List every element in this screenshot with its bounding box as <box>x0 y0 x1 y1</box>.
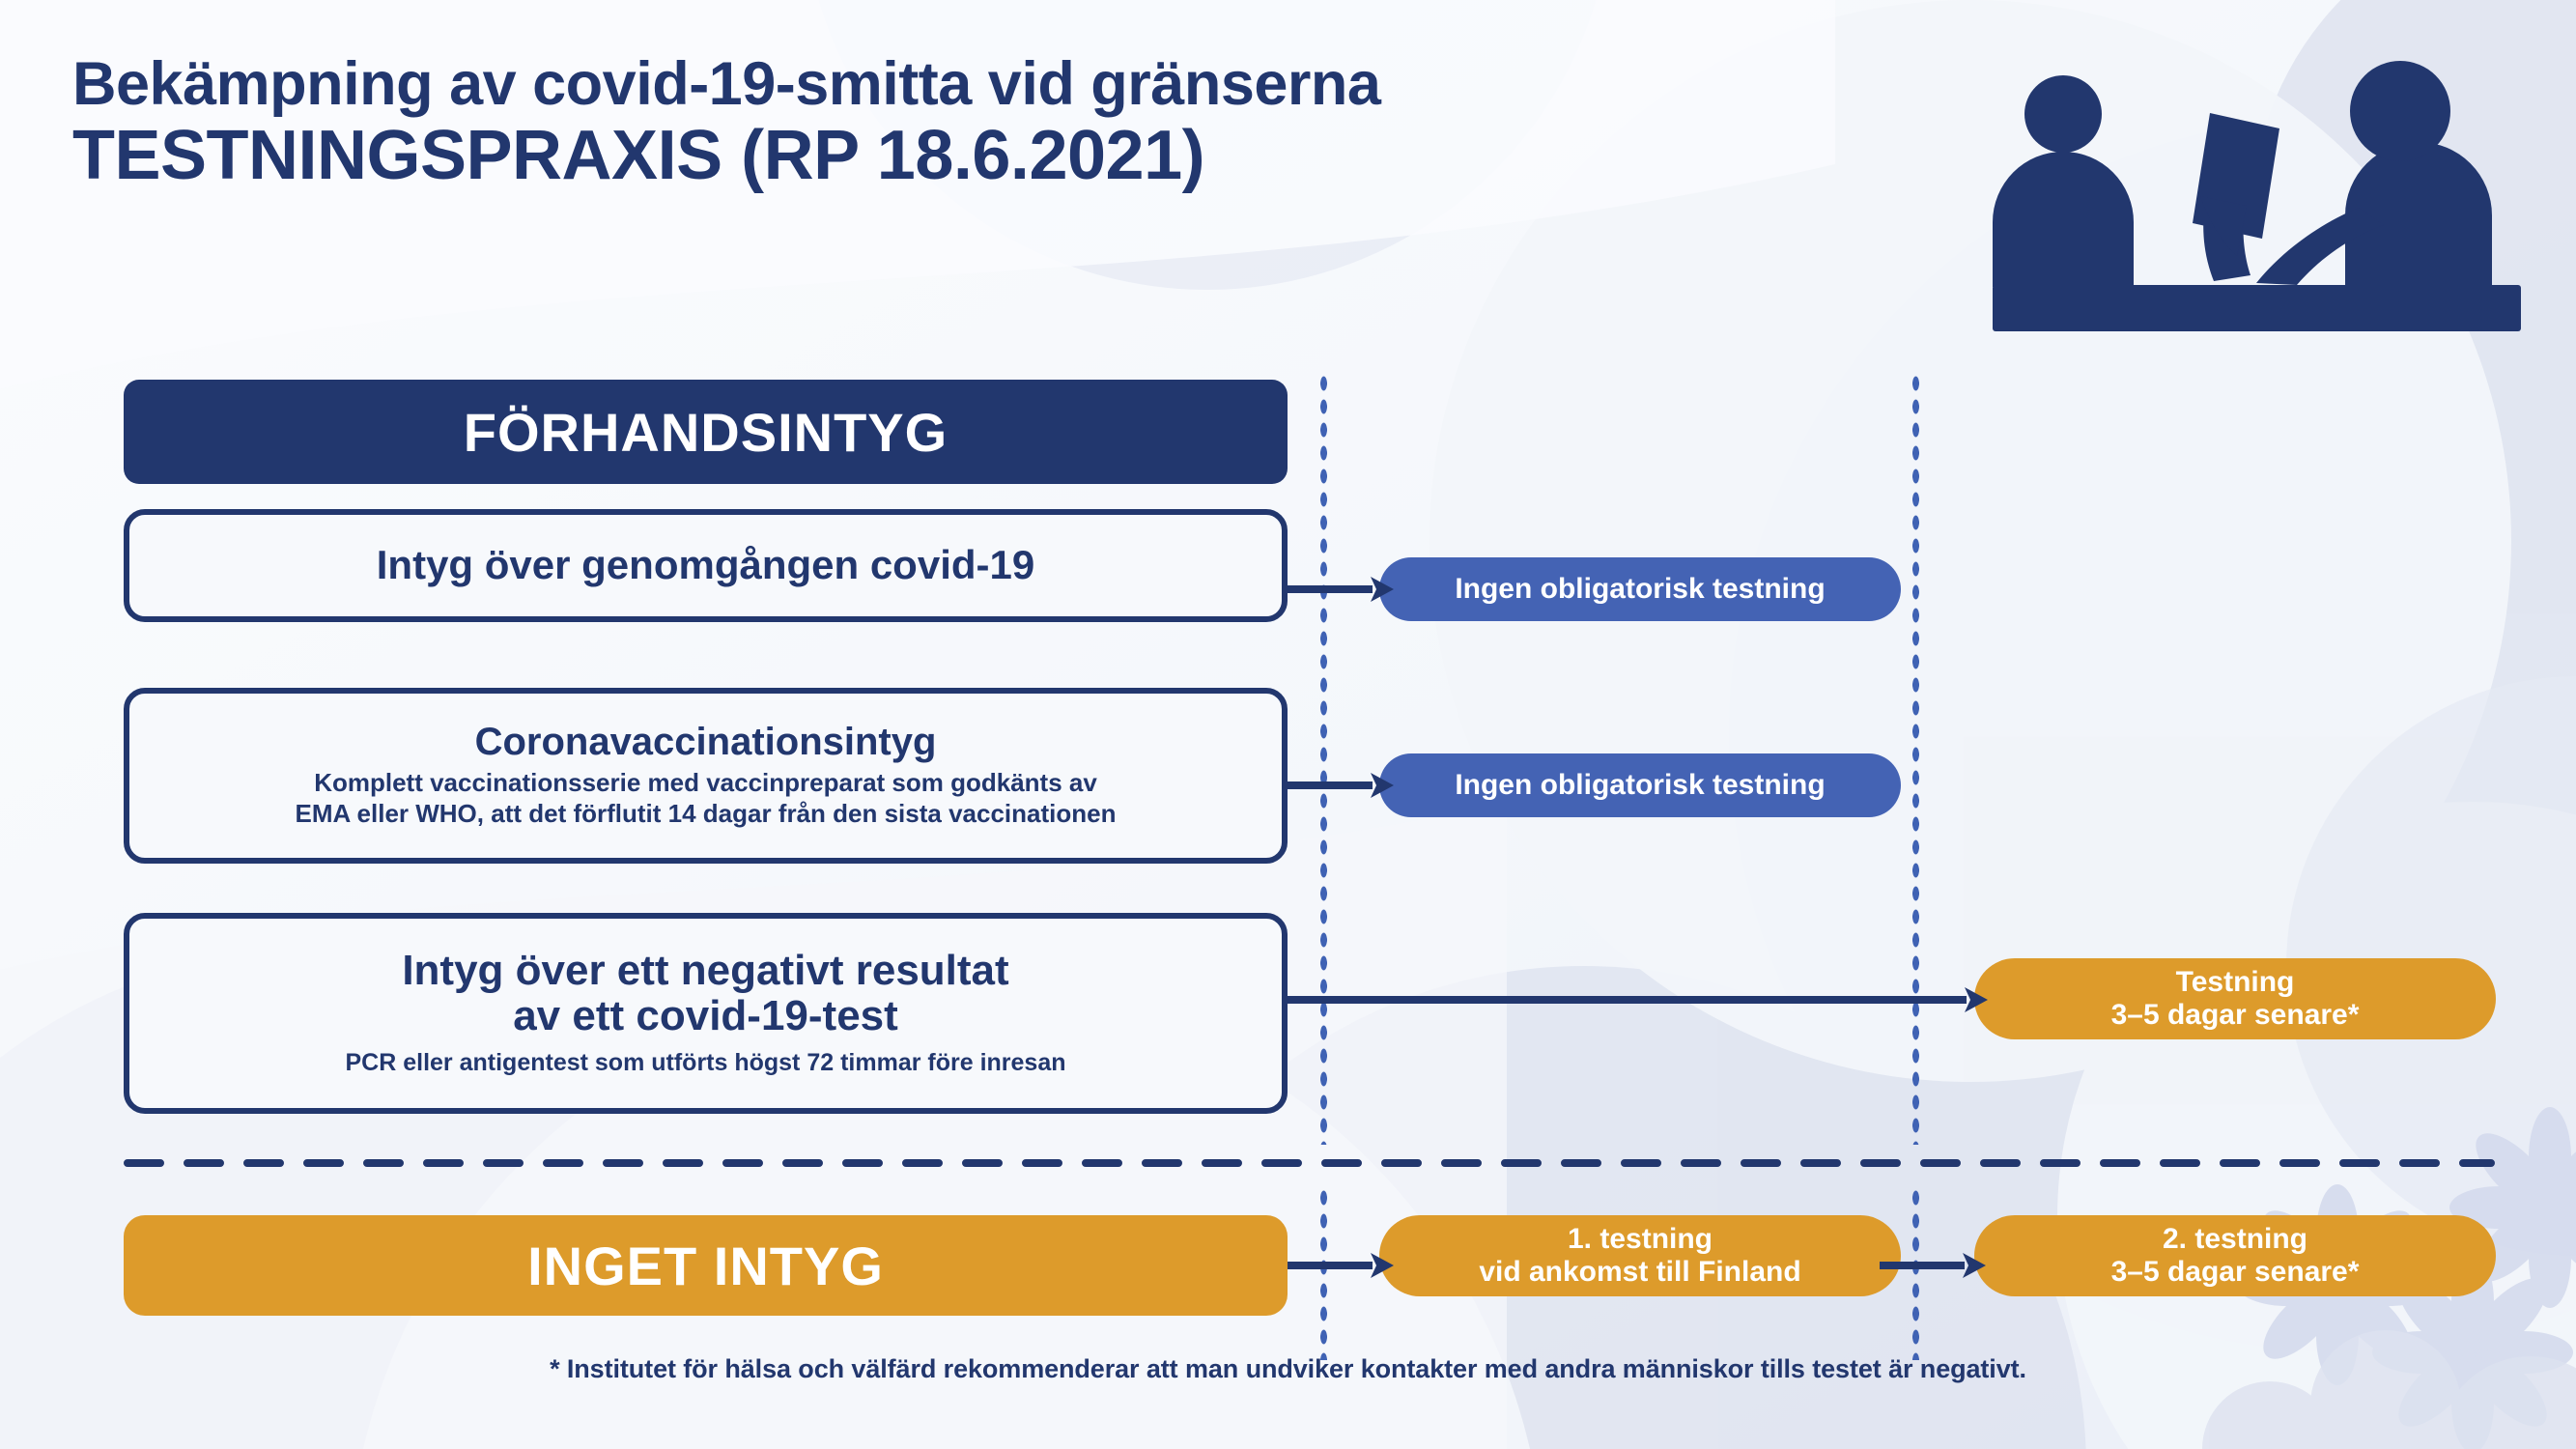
certificate-card-vaccination: Coronavaccinationsintyg Komplett vaccina… <box>124 688 1288 864</box>
section-header-label: FÖRHANDSINTYG <box>464 401 948 464</box>
page-title: TESTNINGSPRAXIS (RP 18.6.2021) <box>72 119 1380 194</box>
connector-arrow-2 <box>1288 771 1394 800</box>
section-header-no-certificate: INGET INTYG <box>124 1215 1288 1316</box>
page-title-subtitle: Bekämpning av covid-19-smitta vid gränse… <box>72 53 1380 115</box>
connector-arrow-5 <box>1880 1251 1986 1280</box>
outcome-pill-label-line2: vid ankomst till Finland <box>1479 1256 1800 1290</box>
outcome-pill-label-line1: 2. testning <box>2163 1223 2307 1257</box>
outcome-pill-label-line1: Testning <box>2176 966 2295 1000</box>
outcome-pill-testing-later: Testning 3–5 dagar senare* <box>1974 958 2496 1039</box>
certificate-card-title-line1: Intyg över ett negativt resultat <box>402 949 1008 994</box>
certificate-card-title: Intyg över genomgången covid-19 <box>377 544 1034 587</box>
page-header: Bekämpning av covid-19-smitta vid gränse… <box>72 53 1380 194</box>
column-rail-1-top <box>1318 372 1329 1145</box>
certificate-card-subtitle-line2: EMA eller WHO, att det förflutit 14 daga… <box>296 799 1117 830</box>
connector-arrow-4 <box>1288 1251 1394 1280</box>
connector-arrow-1 <box>1288 575 1394 604</box>
outcome-pill-second-test: 2. testning 3–5 dagar senare* <box>1974 1215 2496 1296</box>
outcome-pill-label-line2: 3–5 dagar senare* <box>2111 1256 2360 1290</box>
connector-arrow-3 <box>1288 985 1988 1014</box>
outcome-pill-first-test: 1. testning vid ankomst till Finland <box>1379 1215 1901 1296</box>
outcome-pill-label-line2: 3–5 dagar senare* <box>2111 999 2360 1033</box>
certificate-card-title: Coronavaccinationsintyg <box>475 722 937 762</box>
certificate-card-negative-test: Intyg över ett negativt resultat av ett … <box>124 913 1288 1114</box>
section-divider <box>124 1159 2495 1167</box>
border-control-document-check-icon <box>1961 53 2521 362</box>
certificate-card-recovered: Intyg över genomgången covid-19 <box>124 509 1288 622</box>
footnote: * Institutet för hälsa och välfärd rekom… <box>0 1354 2576 1384</box>
certificate-card-subtitle-line1: Komplett vaccinationsserie med vaccinpre… <box>314 768 1097 799</box>
column-rail-2-top <box>1911 372 1921 1145</box>
section-header-label: INGET INTYG <box>527 1235 884 1297</box>
outcome-pill-no-mandatory-testing-1: Ingen obligatorisk testning <box>1379 557 1901 621</box>
certificate-card-title-line2: av ett covid-19-test <box>513 994 898 1039</box>
outcome-pill-label: Ingen obligatorisk testning <box>1455 769 1825 803</box>
section-header-advance-certificate: FÖRHANDSINTYG <box>124 380 1288 484</box>
certificate-card-subtitle: PCR eller antigentest som utförts högst … <box>346 1048 1066 1078</box>
outcome-pill-label-line1: 1. testning <box>1568 1223 1713 1257</box>
outcome-pill-no-mandatory-testing-2: Ingen obligatorisk testning <box>1379 753 1901 817</box>
outcome-pill-label: Ingen obligatorisk testning <box>1455 573 1825 607</box>
